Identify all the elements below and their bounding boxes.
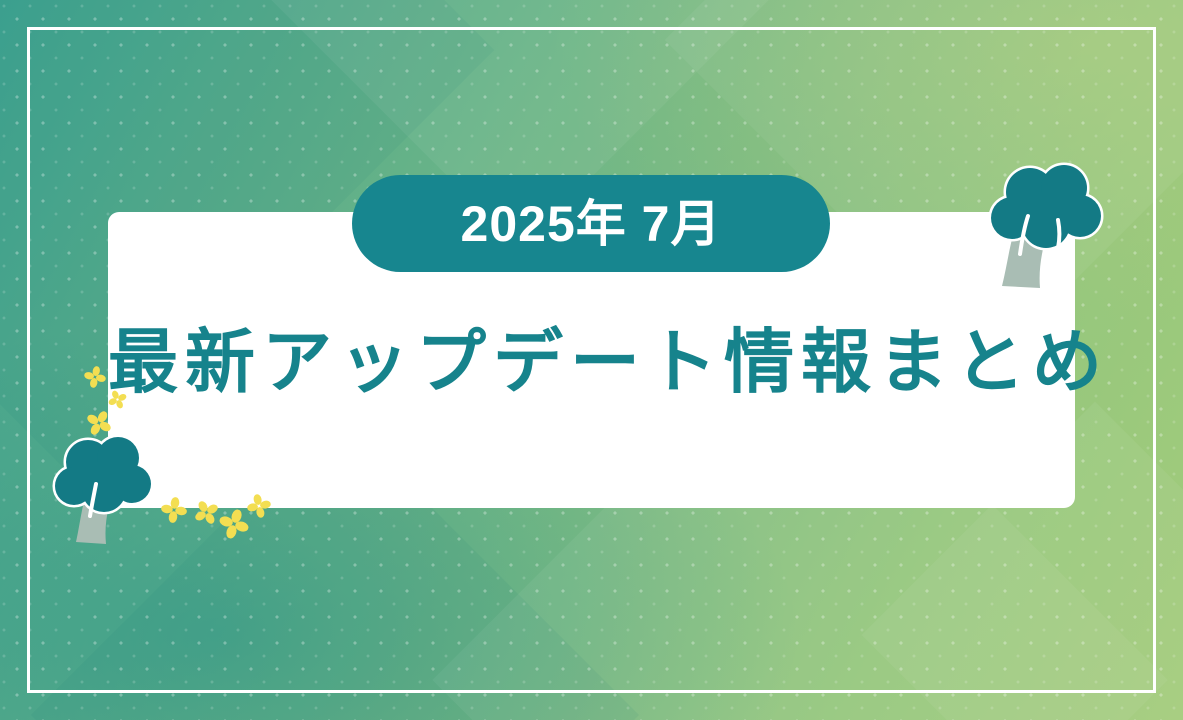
flower-icon [245,492,273,520]
page-title: 最新アップデート情報まとめ [108,320,1075,404]
broccoli-icon [988,158,1113,293]
flower-icon [159,495,188,524]
banner-canvas: 2025年 7月 最新アップデート情報まとめ [0,0,1183,720]
date-badge-label: 2025年 7月 [461,199,722,249]
flower-icon [82,364,108,390]
broccoli-icon [52,432,162,550]
date-badge: 2025年 7月 [352,175,830,272]
